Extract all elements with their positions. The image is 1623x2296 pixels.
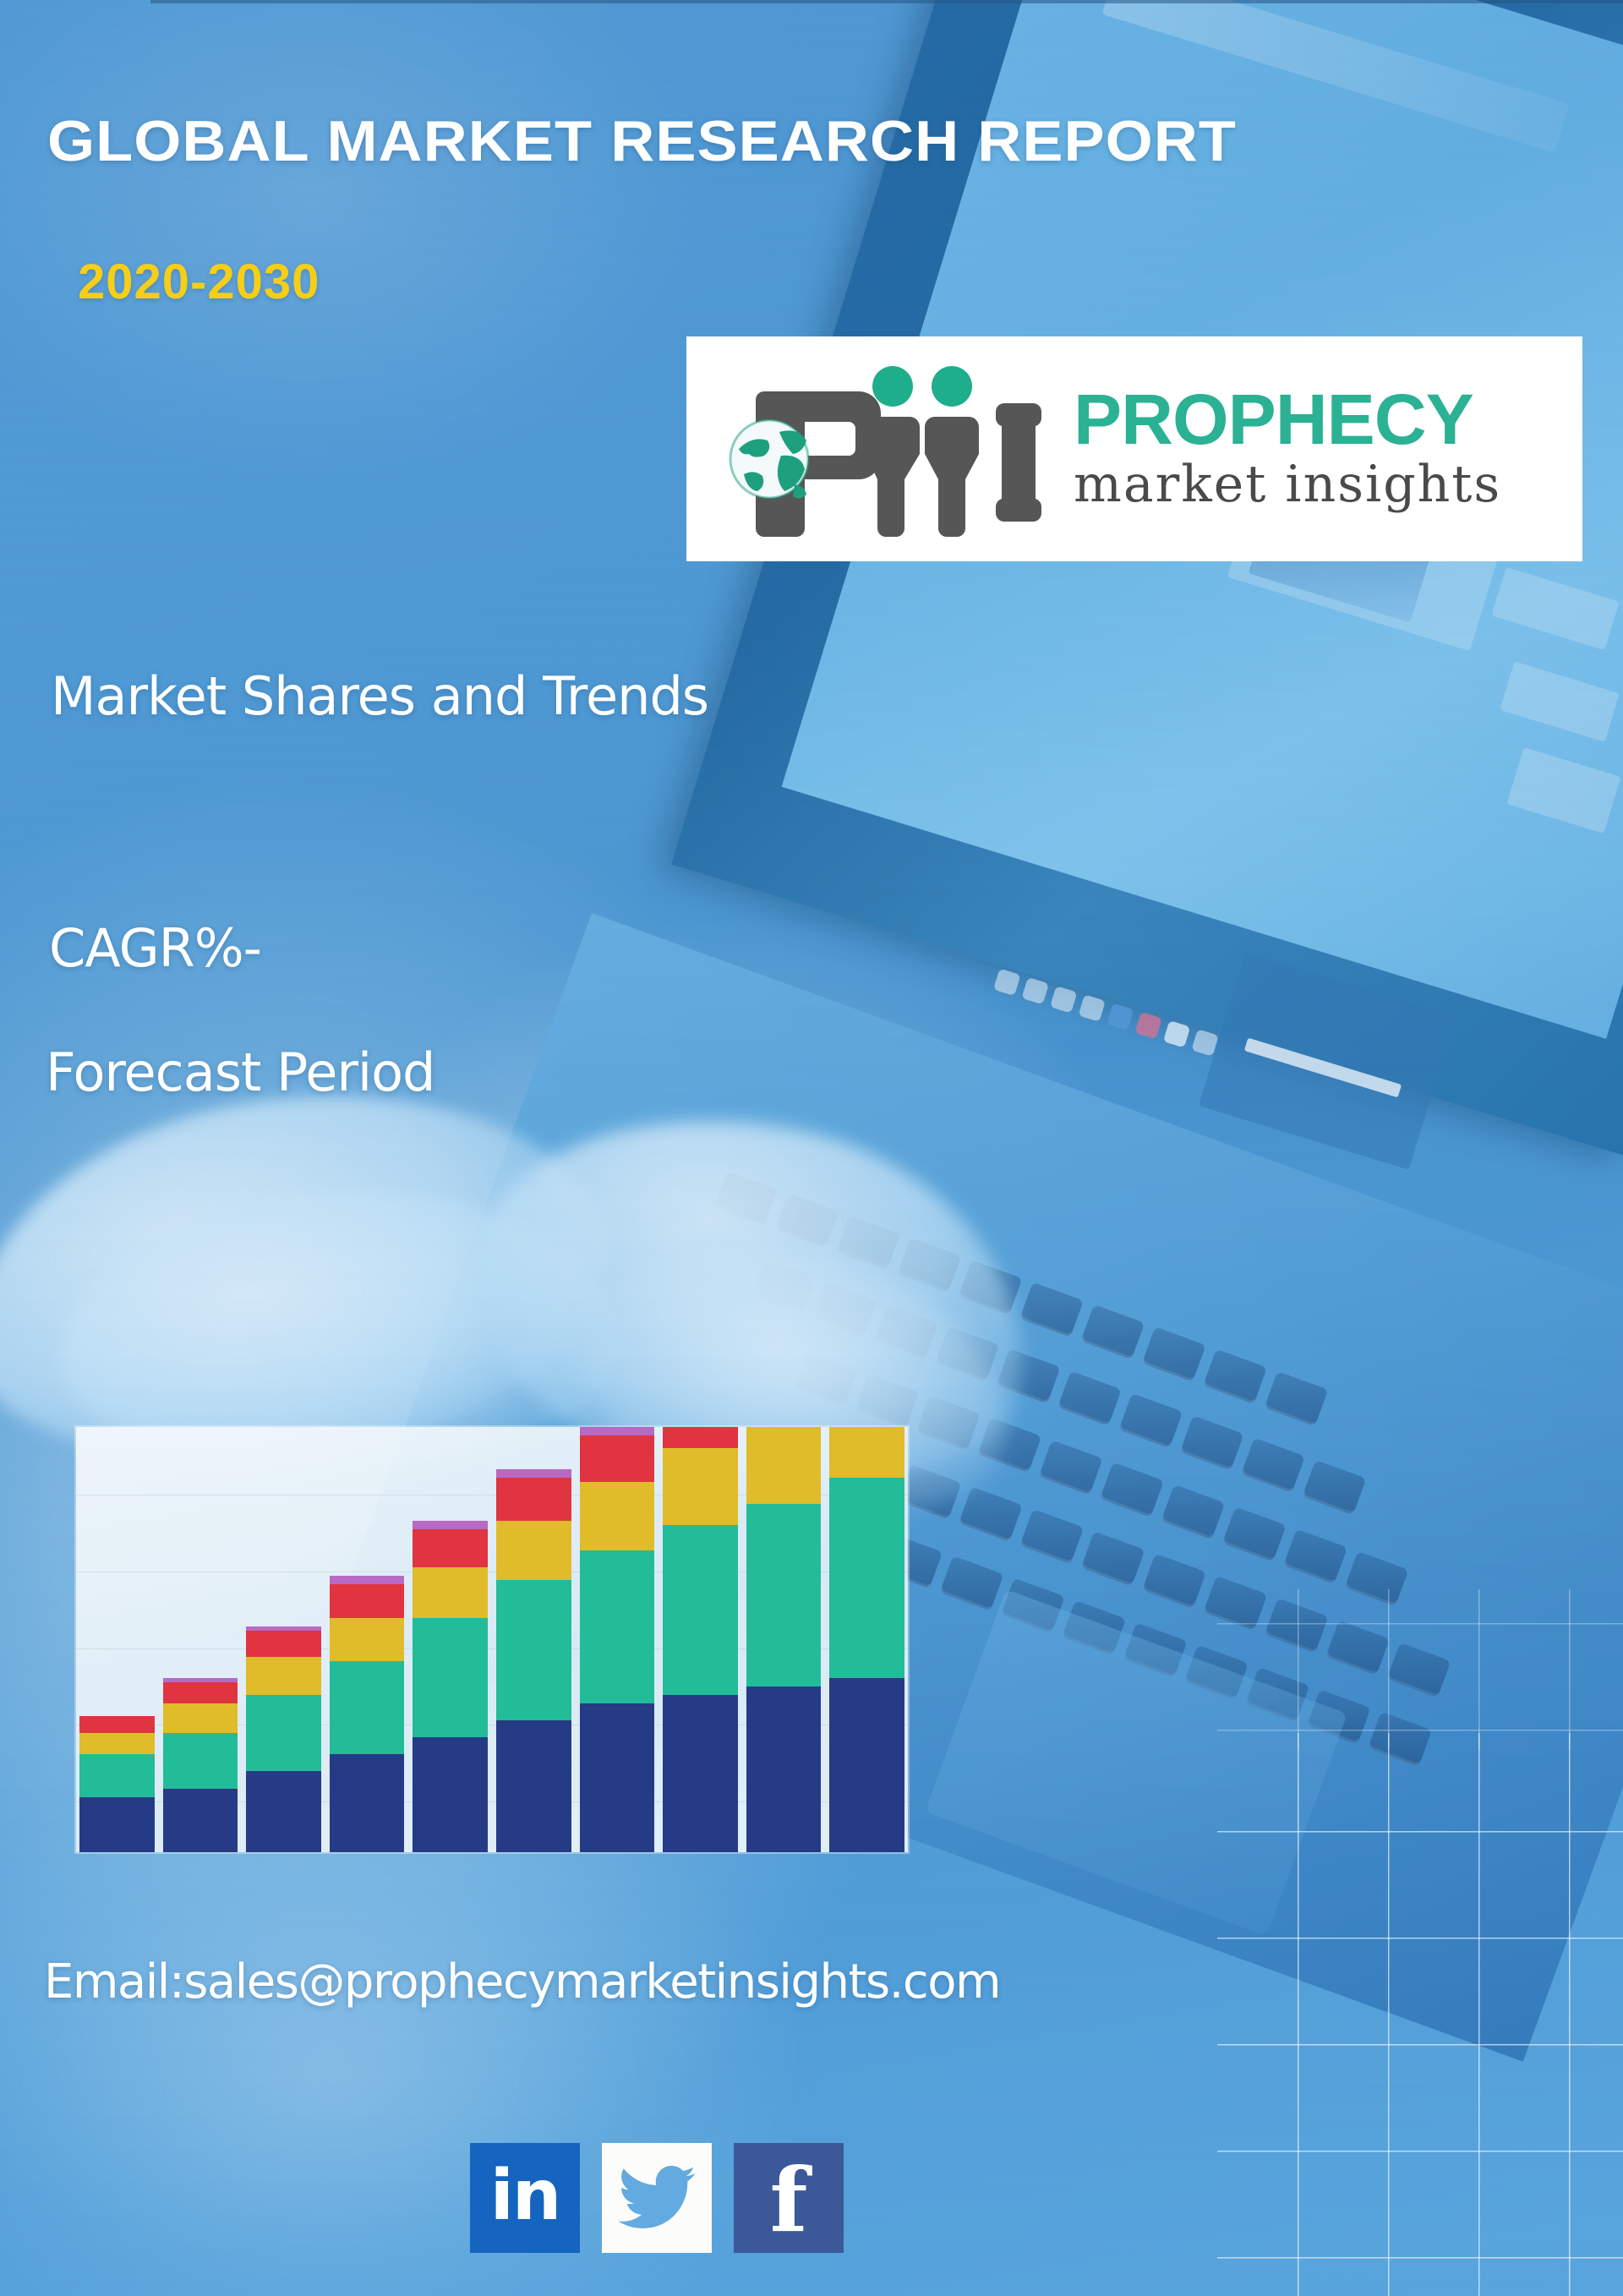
chart-bar-segment — [330, 1754, 405, 1852]
forecast-period-label: Forecast Period — [46, 1041, 434, 1103]
top-edge-line — [150, 0, 1623, 3]
chart-bar — [79, 1716, 155, 1852]
chart-bar — [580, 1427, 655, 1852]
chart-bar-segment — [663, 1448, 738, 1525]
chart-bar-segment — [829, 1427, 904, 1478]
chart-bars — [76, 1427, 908, 1852]
chart-bar-segment — [413, 1529, 488, 1567]
chart-bar — [829, 1427, 904, 1852]
chart-bar-segment — [496, 1580, 571, 1720]
chart-bar-segment — [246, 1771, 321, 1852]
twitter-icon[interactable] — [602, 2143, 712, 2253]
chart-bar — [413, 1521, 488, 1852]
chart-bar — [246, 1626, 321, 1852]
chart-bar-segment — [496, 1720, 571, 1852]
chart-bar-segment — [163, 1703, 238, 1733]
chart-bar-segment — [330, 1618, 405, 1660]
chart-bar-segment — [79, 1716, 155, 1733]
contact-email: Email:sales@prophecymarketinsights.com — [44, 1954, 1000, 2009]
chart-bar-segment — [496, 1478, 571, 1520]
chart-bar-segment — [246, 1695, 321, 1772]
chart-bar-segment — [746, 1504, 822, 1686]
grid-overlay-upper — [1217, 1589, 1623, 1750]
chart-bar-segment — [413, 1567, 488, 1618]
chart-bar-segment — [580, 1482, 655, 1550]
chart-bar-segment — [79, 1797, 155, 1852]
chart-bar-segment — [163, 1789, 238, 1852]
chart-bar-segment — [580, 1427, 655, 1435]
chart-bar-segment — [829, 1478, 904, 1677]
chart-bar — [330, 1576, 405, 1852]
tagline: Market Shares and Trends — [51, 665, 708, 727]
logo-brand: PROPHECY — [1074, 386, 1510, 454]
chart-bar — [663, 1427, 738, 1852]
chart-bar-segment — [496, 1521, 571, 1580]
chart-bar-segment — [580, 1550, 655, 1703]
chart-bar — [746, 1427, 822, 1852]
linkedin-label: in — [490, 2162, 560, 2231]
chart-bar-segment — [246, 1631, 321, 1656]
chart-bar-segment — [413, 1737, 488, 1852]
facebook-icon[interactable]: f — [734, 2143, 844, 2253]
chart-bar-segment — [163, 1682, 238, 1703]
chart-bar-segment — [663, 1525, 738, 1695]
chart-bar-segment — [163, 1733, 238, 1788]
chart-bar-segment — [246, 1657, 321, 1695]
linkedin-icon[interactable]: in — [470, 2143, 580, 2253]
chart-bar-segment — [663, 1695, 738, 1852]
facebook-label: f — [770, 2157, 808, 2244]
report-years: 2020-2030 — [78, 254, 320, 310]
chart-bar-segment — [330, 1576, 405, 1584]
chart-bar-segment — [496, 1469, 571, 1478]
chart-bar-segment — [663, 1427, 738, 1448]
chart-bar-segment — [580, 1435, 655, 1482]
chart-bar-segment — [79, 1754, 155, 1796]
stacked-bar-chart — [76, 1427, 908, 1852]
pmi-globe-people-logo — [713, 356, 1068, 542]
chart-bar-segment — [580, 1703, 655, 1852]
chart-bar-segment — [330, 1584, 405, 1618]
report-cover-page: GLOBAL MARKET RESEARCH REPORT 2020-2030 — [0, 0, 1623, 2296]
chart-bar-segment — [79, 1733, 155, 1754]
social-links: in f — [470, 2143, 844, 2253]
company-logo: PROPHECY market insights — [686, 336, 1582, 561]
chart-bar-segment — [829, 1678, 904, 1852]
chart-bar-segment — [330, 1661, 405, 1755]
chart-bar-segment — [413, 1521, 488, 1529]
chart-bar-segment — [746, 1427, 822, 1504]
chart-bar-segment — [413, 1618, 488, 1737]
grid-overlay — [1217, 1733, 1623, 2296]
chart-bar — [163, 1678, 238, 1852]
logo-wordmark: PROPHECY market insights — [1074, 386, 1501, 512]
logo-subtitle: market insights — [1074, 458, 1501, 511]
cagr-label: CAGR%- — [49, 917, 261, 979]
page-title: GLOBAL MARKET RESEARCH REPORT — [47, 108, 1237, 174]
chart-bar — [496, 1469, 571, 1852]
chart-bar-segment — [746, 1686, 822, 1852]
